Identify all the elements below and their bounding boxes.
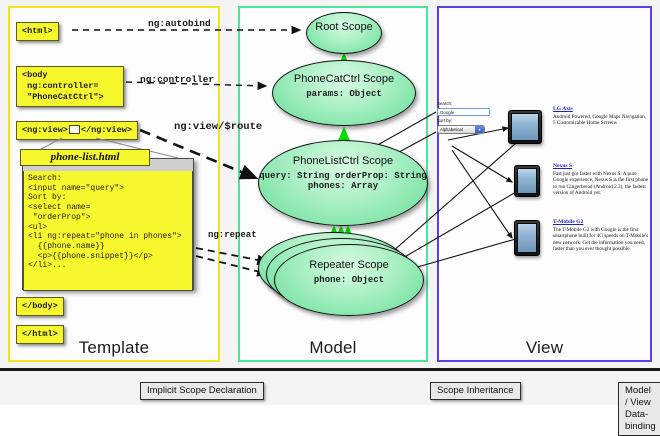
legend-divider	[0, 368, 660, 371]
legend-item-scope-inheritance: Scope Inheritance	[430, 382, 521, 400]
phone-thumbnail-3	[514, 220, 540, 256]
tag-body-close: </body>	[16, 297, 64, 316]
scope-phonelistctrl-name: PhoneListCtrl Scope	[259, 155, 427, 168]
search-label: Search:	[437, 101, 495, 107]
view-search-form: Search: Google Sort by: Alphabetical ▾	[437, 101, 495, 134]
tag-html-close: </html>	[16, 325, 64, 344]
phone-description: The T-Mobile G2 with Google is the first…	[553, 227, 649, 253]
phone-list-item[interactable]: T-Mobile G2 The T-Mobile G2 with Google …	[553, 219, 649, 253]
scope-phonelistctrl-fields: query: String orderProp: String phones: …	[259, 171, 427, 192]
scope-phonelistctrl[interactable]: PhoneListCtrl Scope query: String orderP…	[258, 140, 428, 226]
phone-thumbnail-1	[508, 110, 542, 144]
tag-ngview: <ng:view></ng:view>	[16, 121, 138, 140]
template-code-note: Search: <input name="query"> Sort by: <s…	[22, 158, 194, 290]
column-view-label: View	[439, 338, 650, 358]
phone-body	[508, 110, 542, 144]
scope-root[interactable]: Root Scope	[306, 12, 382, 54]
wire-label-autobind: ng:autobind	[148, 18, 211, 29]
phone-list-item[interactable]: Nexus S Fast just got faster with Nexus …	[553, 163, 649, 197]
phone-description: Fast just got faster with Nexus S. A pur…	[553, 171, 649, 197]
tag-ngview-close: </ng:view>	[81, 125, 132, 135]
phone-title-link[interactable]: Nexus S	[553, 163, 649, 169]
tag-ngview-open: <ng:view>	[22, 125, 68, 135]
template-code-body: Search: <input name="query"> Sort by: <s…	[23, 171, 193, 291]
ngview-slot-icon	[69, 125, 80, 134]
phone-body	[514, 165, 540, 197]
wire-label-repeat: ng:repeat	[208, 230, 257, 240]
phone-title-link[interactable]: T-Mobile G2	[553, 219, 649, 225]
legend-item-data-binding: Model / View Data-binding	[618, 382, 660, 436]
legend-item-implicit-scope: Implicit Scope Declaration	[140, 382, 264, 400]
phone-screen	[511, 113, 539, 141]
sort-select[interactable]: Alphabetical ▾	[437, 125, 485, 134]
wire-label-route: ng:view/$route	[174, 121, 262, 133]
diagram-canvas: Template Model View	[0, 0, 660, 405]
phone-screen	[517, 168, 537, 194]
chevron-down-icon: ▾	[475, 126, 484, 133]
scope-phonecatctrl-name: PhoneCatCtrl Scope	[273, 73, 415, 86]
phone-screen	[517, 223, 537, 253]
column-model-label: Model	[240, 338, 426, 358]
scope-repeater[interactable]: Repeater Scope phone: Object	[274, 244, 424, 316]
search-input[interactable]: Google	[437, 108, 490, 116]
wire-label-controller: ng:controller	[140, 74, 214, 85]
phone-title-link[interactable]: LG Axis	[553, 106, 649, 112]
sort-label: Sort by:	[437, 118, 495, 124]
tag-html-open: <html>	[16, 22, 59, 41]
scope-phonecatctrl[interactable]: PhoneCatCtrl Scope params: Object	[272, 60, 416, 126]
tag-body-open: <body ng:controller= "PhoneCatCtrl">	[16, 66, 124, 107]
scope-repeater-fields: phone: Object	[275, 275, 423, 286]
phone-list-item[interactable]: LG Axis Android Powered, Google Maps Nav…	[553, 106, 649, 127]
phone-body	[514, 220, 540, 256]
template-code-title: phone-list.html	[20, 149, 150, 166]
scope-repeater-name: Repeater Scope	[275, 259, 423, 272]
scope-root-name: Root Scope	[307, 21, 381, 34]
legend	[0, 368, 660, 405]
phone-description: Android Powered, Google Maps Navigation,…	[553, 114, 649, 127]
scope-phonecatctrl-fields: params: Object	[273, 89, 415, 100]
sort-select-value: Alphabetical	[440, 127, 463, 132]
phone-thumbnail-2	[514, 165, 540, 197]
